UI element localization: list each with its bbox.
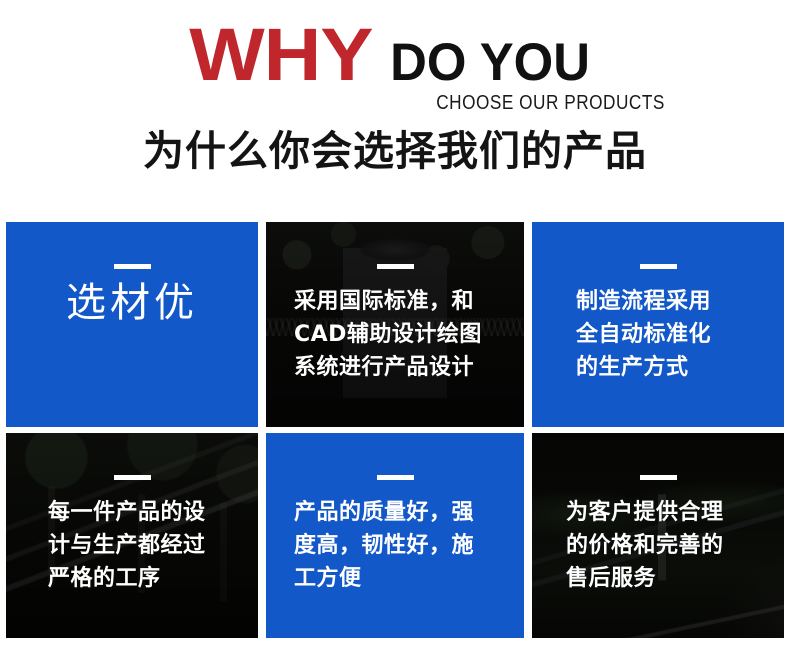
- header-chinese-title: 为什么你会选择我们的产品: [0, 126, 790, 176]
- feature-cell-5-text: 产品的质量好，强 度高，韧性好，施 工方便: [266, 496, 488, 595]
- feature-cell-2-text: 采用国际标准，和 CAD辅助设计绘图 系统进行产品设计: [266, 285, 496, 384]
- headline-accent-why: WHY: [189, 18, 372, 92]
- feature-cell-1-text: 选材优: [6, 275, 258, 331]
- header-subline: CHOOSE OUR PRODUCTS: [436, 92, 665, 114]
- feature-cell-1: 选材优: [6, 222, 258, 427]
- divider-dash-icon: [640, 264, 677, 269]
- divider-dash-icon: [377, 264, 414, 269]
- feature-cell-4: 每一件产品的设 计与生产都经过 严格的工序: [6, 433, 258, 638]
- feature-cell-2: 采用国际标准，和 CAD辅助设计绘图 系统进行产品设计: [266, 222, 524, 427]
- feature-cell-6: 为客户提供合理 的价格和完善的 售后服务: [532, 433, 784, 638]
- divider-dash-icon: [114, 475, 151, 480]
- feature-cell-6-text: 为客户提供合理 的价格和完善的 售后服务: [532, 496, 738, 595]
- divider-dash-icon: [114, 264, 151, 269]
- divider-dash-icon: [377, 475, 414, 480]
- feature-cell-5: 产品的质量好，强 度高，韧性好，施 工方便: [266, 433, 524, 638]
- feature-grid: 选材优 采用国际标准，和 CAD辅助设计绘图 系统进行产品设计 制造流程采用 全…: [6, 222, 784, 638]
- poster: WHY DO YOU CHOOSE OUR PRODUCTS 为什么你会选择我们…: [0, 0, 790, 665]
- feature-cell-4-text: 每一件产品的设 计与生产都经过 严格的工序: [6, 496, 220, 595]
- headline: WHY DO YOU: [0, 18, 790, 94]
- feature-cell-3-text: 制造流程采用 全自动标准化 的生产方式: [532, 285, 725, 384]
- feature-cell-3: 制造流程采用 全自动标准化 的生产方式: [532, 222, 784, 427]
- header: WHY DO YOU CHOOSE OUR PRODUCTS 为什么你会选择我们…: [0, 0, 790, 212]
- headline-rest-do-you: DO YOU: [390, 36, 590, 89]
- divider-dash-icon: [640, 475, 677, 480]
